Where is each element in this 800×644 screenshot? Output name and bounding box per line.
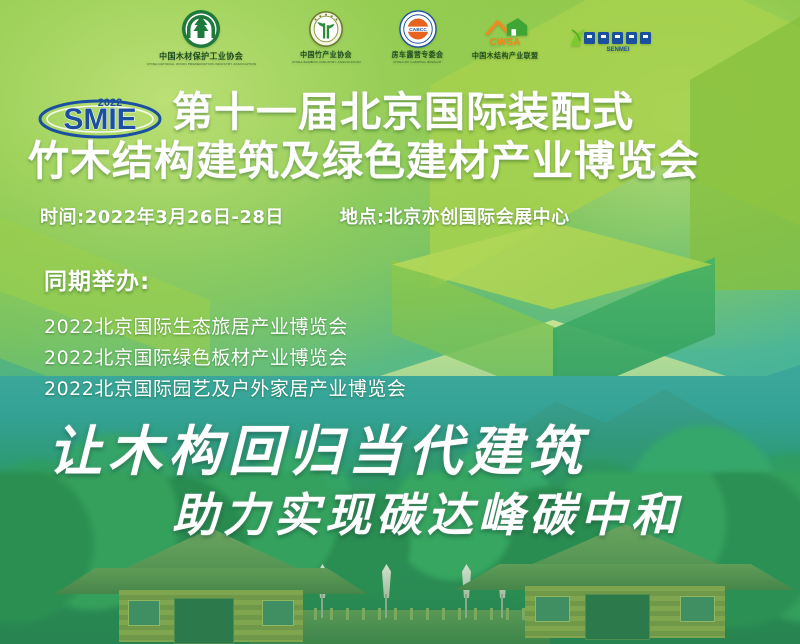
cwsa-house-logo-icon: CWSA: [481, 13, 529, 49]
bamboo-seal-logo-icon: [307, 10, 345, 48]
organizer-logo-cwsa[interactable]: CWSA 中国木结构产业联盟: [472, 13, 539, 61]
exhibition-poster: 中国木材保护工业协会 CHINA NATIONAL WOOD PRESERVAT…: [0, 0, 800, 644]
organizer-name-en: CHINA NATIONAL WOOD PRESERVATION INDUSTR…: [146, 62, 256, 66]
wooden-cabin-left: [96, 528, 326, 644]
organizer-logo-cabcc[interactable]: CABCC 房车露营专委会 CHINA RV CAMPING BRANCH: [391, 10, 444, 64]
title-line-1: 第十一届北京国际装配式: [0, 88, 800, 136]
list-item: 2022北京国际园艺及户外家居产业博览会: [44, 374, 406, 405]
organizer-name-cn: 中国竹产业协会: [300, 50, 352, 61]
organizer-name-en: CHINA RV CAMPING BRANCH: [393, 60, 441, 64]
cabcc-badge-logo-icon: CABCC: [399, 10, 437, 48]
organizer-name-cn: 房车露营专委会: [392, 50, 444, 61]
svg-text:CWSA: CWSA: [490, 37, 522, 48]
organizer-logo-china-bamboo[interactable]: 中国竹产业协会 CHINA BAMBOO INDUSTRY ASSOCIATIO…: [289, 10, 364, 64]
senmei-leaf-logo-icon: SENMEI: [566, 22, 658, 52]
event-venue: 地点:北京亦创国际会展中心: [340, 203, 570, 229]
event-meta: 时间:2022年3月26日-28日 地点:北京亦创国际会展中心: [40, 203, 570, 229]
organizer-logo-china-wood-preservation[interactable]: 中国木材保护工业协会 CHINA NATIONAL WOOD PRESERVAT…: [142, 9, 261, 66]
tree-shield-logo-icon: [181, 9, 221, 49]
list-item: 2022北京国际生态旅居产业博览会: [44, 312, 406, 343]
concurrent-events-list: 2022北京国际生态旅居产业博览会 2022北京国际绿色板材产业博览会 2022…: [44, 312, 406, 405]
organizer-logo-bar: 中国木材保护工业协会 CHINA NATIONAL WOOD PRESERVAT…: [0, 0, 800, 74]
page-title: 第十一届北京国际装配式 竹木结构建筑及绿色建材产业博览会: [0, 88, 800, 186]
event-date: 时间:2022年3月26日-28日: [40, 203, 284, 229]
svg-text:SENMEI: SENMEI: [607, 47, 630, 52]
organizer-name-cn: 中国木结构产业联盟: [472, 51, 539, 62]
list-item: 2022北京国际绿色板材产业博览会: [44, 343, 406, 374]
patio-umbrella-icon: [462, 564, 471, 616]
patio-umbrella-icon: [382, 564, 391, 616]
organizer-logo-senmei[interactable]: SENMEI: [566, 22, 658, 52]
title-line-2: 竹木结构建筑及绿色建材产业博览会: [0, 136, 800, 186]
organizer-name-cn: 中国木材保护工业协会: [159, 50, 243, 62]
slogan-line-1: 让木构回归当代建筑: [48, 420, 588, 482]
slogan-line-2: 助力实现碳达峰碳中和: [172, 487, 682, 543]
svg-text:CABCC: CABCC: [409, 27, 427, 33]
organizer-name-en: CHINA BAMBOO INDUSTRY ASSOCIATION: [292, 60, 361, 64]
concurrent-events-heading: 同期举办:: [44, 262, 406, 296]
concurrent-events-section: 同期举办: 2022北京国际生态旅居产业博览会 2022北京国际绿色板材产业博览…: [44, 262, 406, 405]
